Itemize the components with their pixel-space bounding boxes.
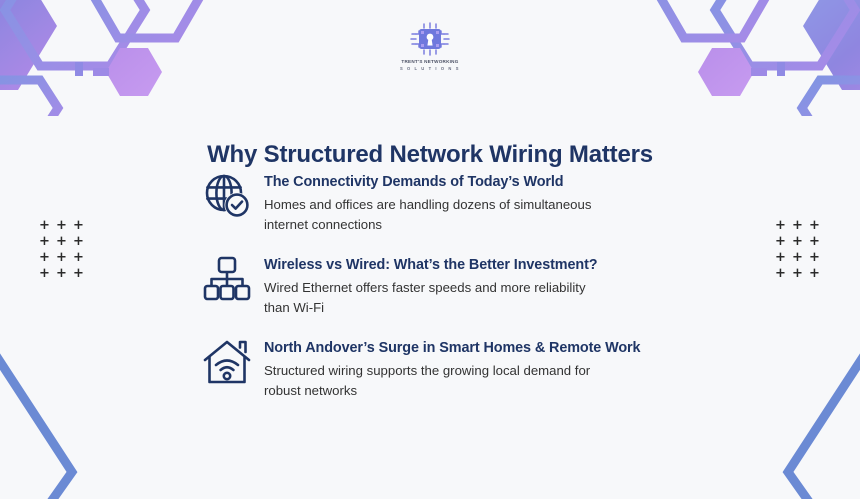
plus-icon: +	[806, 250, 823, 266]
plus-icon: +	[789, 234, 806, 250]
feature-title: Wireless vs Wired: What’s the Better Inv…	[264, 256, 722, 275]
plus-icon: +	[70, 266, 87, 282]
plus-icon: +	[789, 250, 806, 266]
brand-subname: S O L U T I O N S	[400, 66, 460, 71]
network-hierarchy-icon	[202, 253, 264, 309]
feature-title: The Connectivity Demands of Today’s Worl…	[264, 173, 722, 192]
feature-title: North Andover’s Surge in Smart Homes & R…	[264, 339, 722, 358]
chip-keyhole-icon	[408, 22, 452, 56]
plus-icon: +	[36, 266, 53, 282]
plus-icon: +	[789, 218, 806, 234]
plus-icon: +	[70, 218, 87, 234]
plus-icon: +	[806, 266, 823, 282]
smart-home-wifi-icon	[202, 336, 264, 392]
brand-name: TRENT'S NETWORKING	[401, 59, 458, 64]
plus-icon: +	[772, 266, 789, 282]
plus-grid-decoration-right: + + + + + + + + + + + +	[772, 218, 823, 282]
plus-icon: +	[772, 250, 789, 266]
slide-canvas: + + + + + + + + + + + + + + + + + + + + …	[0, 0, 860, 499]
plus-icon: +	[806, 218, 823, 234]
feature-description: Structured wiring supports the growing l…	[264, 361, 594, 401]
plus-icon: +	[806, 234, 823, 250]
feature-text: Wireless vs Wired: What’s the Better Inv…	[264, 253, 722, 318]
plus-icon: +	[36, 234, 53, 250]
brand-logo: TRENT'S NETWORKING S O L U T I O N S	[0, 22, 860, 71]
plus-icon: +	[53, 218, 70, 234]
feature-description: Wired Ethernet offers faster speeds and …	[264, 278, 594, 318]
feature-text: The Connectivity Demands of Today’s Worl…	[264, 170, 722, 235]
plus-grid-decoration-left: + + + + + + + + + + + +	[36, 218, 87, 282]
plus-icon: +	[772, 234, 789, 250]
plus-icon: +	[70, 250, 87, 266]
plus-icon: +	[70, 234, 87, 250]
plus-icon: +	[53, 234, 70, 250]
chevron-line-icon	[740, 324, 860, 499]
globe-check-icon	[202, 170, 264, 226]
plus-icon: +	[53, 266, 70, 282]
plus-icon: +	[53, 250, 70, 266]
feature-item-connectivity-demands: The Connectivity Demands of Today’s Worl…	[202, 170, 722, 235]
plus-icon: +	[36, 218, 53, 234]
feature-item-wireless-vs-wired: Wireless vs Wired: What’s the Better Inv…	[202, 253, 722, 318]
feature-description: Homes and offices are handling dozens of…	[264, 195, 594, 235]
chevron-line-icon	[0, 324, 120, 499]
plus-icon: +	[772, 218, 789, 234]
feature-list: The Connectivity Demands of Today’s Worl…	[202, 170, 722, 401]
page-title: Why Structured Network Wiring Matters	[0, 141, 860, 169]
feature-item-smart-homes: North Andover’s Surge in Smart Homes & R…	[202, 336, 722, 401]
plus-icon: +	[789, 266, 806, 282]
plus-icon: +	[36, 250, 53, 266]
feature-text: North Andover’s Surge in Smart Homes & R…	[264, 336, 722, 401]
